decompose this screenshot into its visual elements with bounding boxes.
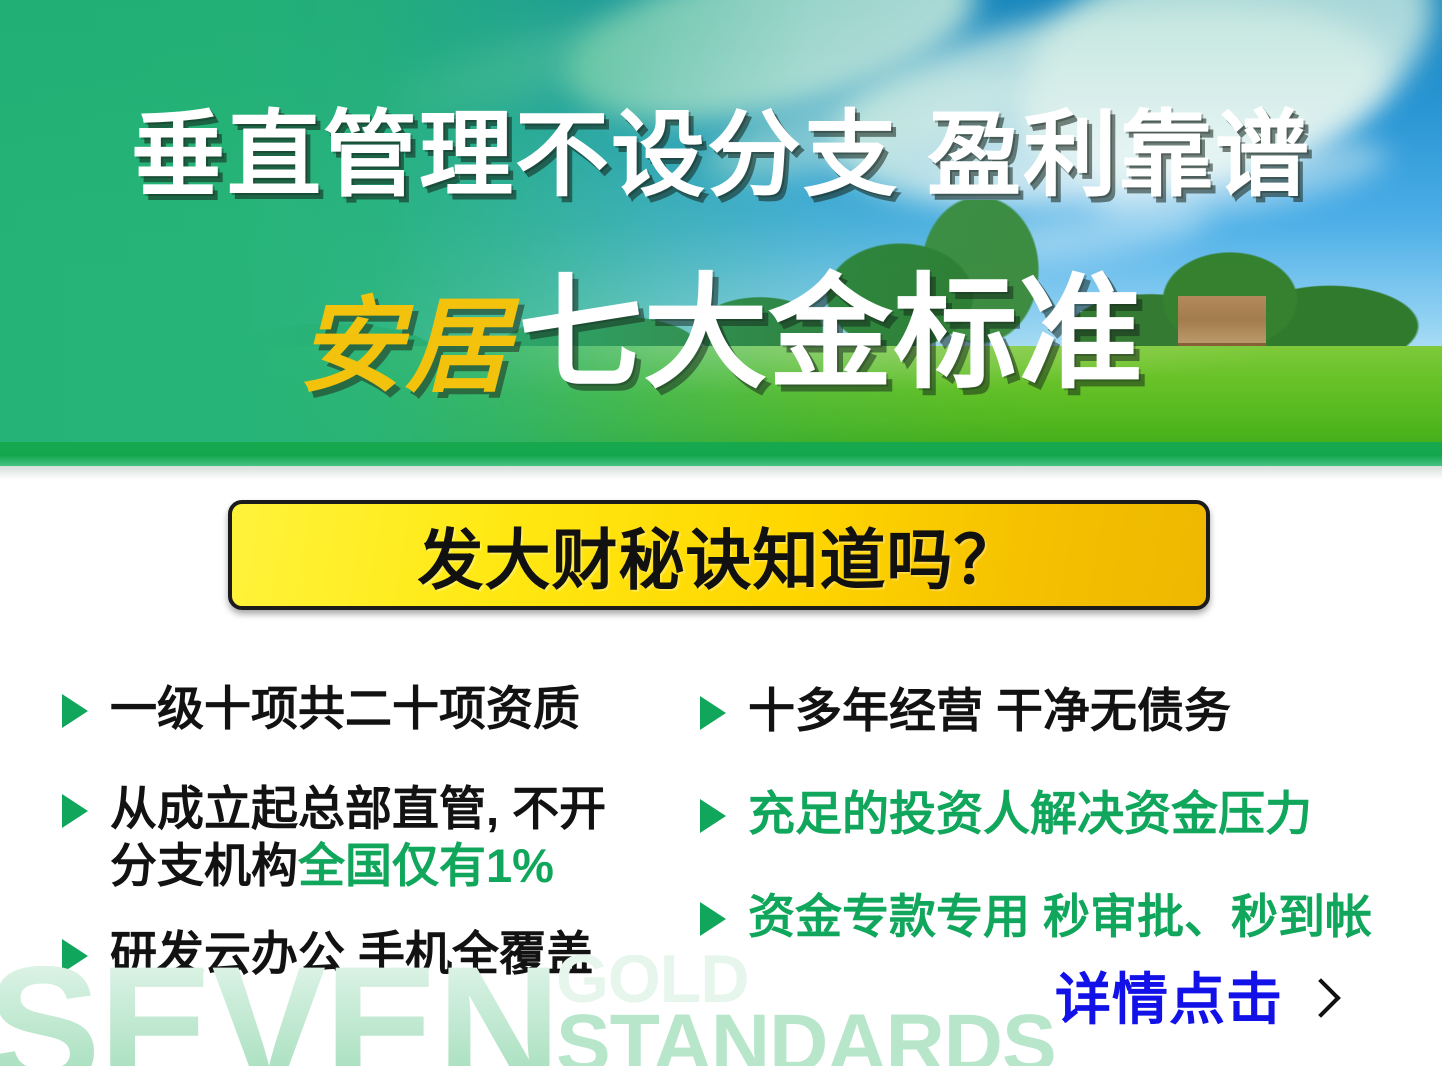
feature-item: 充足的投资人解决资金压力 — [700, 785, 1312, 842]
triangle-bullet-icon — [62, 939, 88, 973]
hero-subtitle: 安居七大金标准 — [0, 272, 1442, 400]
feature-item-text: 从成立起总部直管, 不开 分支机构全国仅有1% — [110, 780, 606, 895]
headline-banner-text: 发大财秘诀知道吗？ — [418, 507, 1021, 603]
feature-item-text: 资金专款专用 秒审批、秒到帐 — [748, 888, 1372, 945]
feature-list: 一级十项共二十项资质 从成立起总部直管, 不开 分支机构全国仅有1% 研发云办公… — [0, 660, 1442, 990]
watermark-standards: STANDARDS — [556, 1003, 1056, 1066]
hero-title: 垂直管理不设分支 盈利靠谱 — [0, 108, 1442, 202]
feature-item-text: 研发云办公 手机全覆盖 — [110, 925, 593, 982]
hero-banner: 垂直管理不设分支 盈利靠谱 安居七大金标准 — [0, 0, 1442, 466]
chevron-right-icon — [1305, 978, 1331, 1022]
triangle-bullet-icon — [700, 799, 726, 833]
feature-item: 资金专款专用 秒审批、秒到帐 — [700, 888, 1372, 945]
feature-item: 十多年经营 干净无债务 — [700, 682, 1231, 739]
feature-item: 一级十项共二十项资质 — [62, 680, 580, 737]
headline-banner[interactable]: 发大财秘诀知道吗？ — [228, 500, 1210, 610]
hero-subtitle-main: 七大金标准 — [519, 265, 1144, 403]
feature-item-text: 十多年经营 干净无债务 — [748, 682, 1231, 739]
triangle-bullet-icon — [62, 694, 88, 728]
triangle-bullet-icon — [62, 794, 88, 828]
details-cta-button[interactable]: 详情点击 — [1055, 972, 1331, 1028]
feature-item: 研发云办公 手机全覆盖 — [62, 925, 593, 982]
feature-item: 从成立起总部直管, 不开 分支机构全国仅有1% — [62, 780, 606, 895]
feature-item-text: 充足的投资人解决资金压力 — [748, 785, 1312, 842]
promo-poster: 垂直管理不设分支 盈利靠谱 安居七大金标准 发大财秘诀知道吗？ 一级十项共二十项… — [0, 0, 1442, 1066]
hero-bottom-bar — [0, 442, 1442, 466]
triangle-bullet-icon — [700, 902, 726, 936]
triangle-bullet-icon — [700, 696, 726, 730]
feature-item-text: 一级十项共二十项资质 — [110, 680, 580, 737]
feature-highlight: 全国仅有1% — [298, 839, 554, 892]
hero-subtitle-brand: 安居 — [298, 290, 512, 405]
details-cta-label: 详情点击 — [1055, 972, 1283, 1028]
hero-drop-shadow — [0, 466, 1442, 480]
